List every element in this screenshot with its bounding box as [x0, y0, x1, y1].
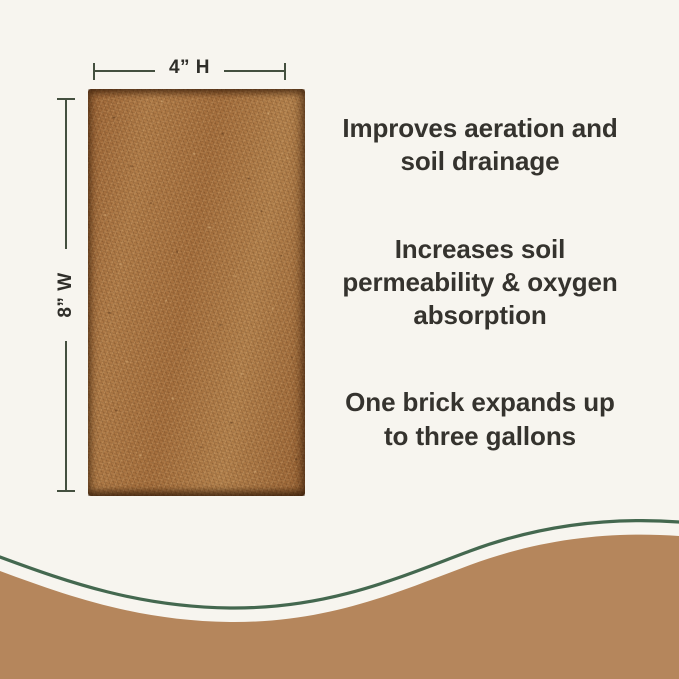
- benefit-item-3: One brick expands up to three gallons: [336, 386, 624, 453]
- bottom-soil-wave: [0, 519, 679, 679]
- brick-top-edge-shading: [88, 89, 305, 98]
- brick-bottom-edge-shading: [88, 487, 305, 496]
- wave-fill-shape: [0, 535, 679, 679]
- benefits-list: Improves aeration and soil drainage Incr…: [336, 86, 624, 479]
- height-dimension-label: 8” W: [55, 272, 77, 317]
- benefit-item-1: Improves aeration and soil drainage: [336, 112, 624, 179]
- height-dimension-line-bottom: [65, 341, 67, 491]
- height-dimension-cap-bottom: [57, 490, 75, 492]
- width-dimension-cap-right: [284, 63, 286, 80]
- width-dimension-label: 4” H: [88, 57, 291, 79]
- benefit-item-2: Increases soil permeability & oxygen abs…: [336, 233, 624, 333]
- width-dimension-line-right: [224, 70, 286, 72]
- height-dimension-line-top: [65, 99, 67, 249]
- coco-coir-brick-image: [88, 89, 305, 496]
- infographic-canvas: 4” H 8” W Improves aeration and soil dra…: [0, 0, 679, 679]
- width-dimension-annotation: 4” H: [88, 56, 291, 86]
- height-dimension-annotation: 8” W: [50, 89, 82, 501]
